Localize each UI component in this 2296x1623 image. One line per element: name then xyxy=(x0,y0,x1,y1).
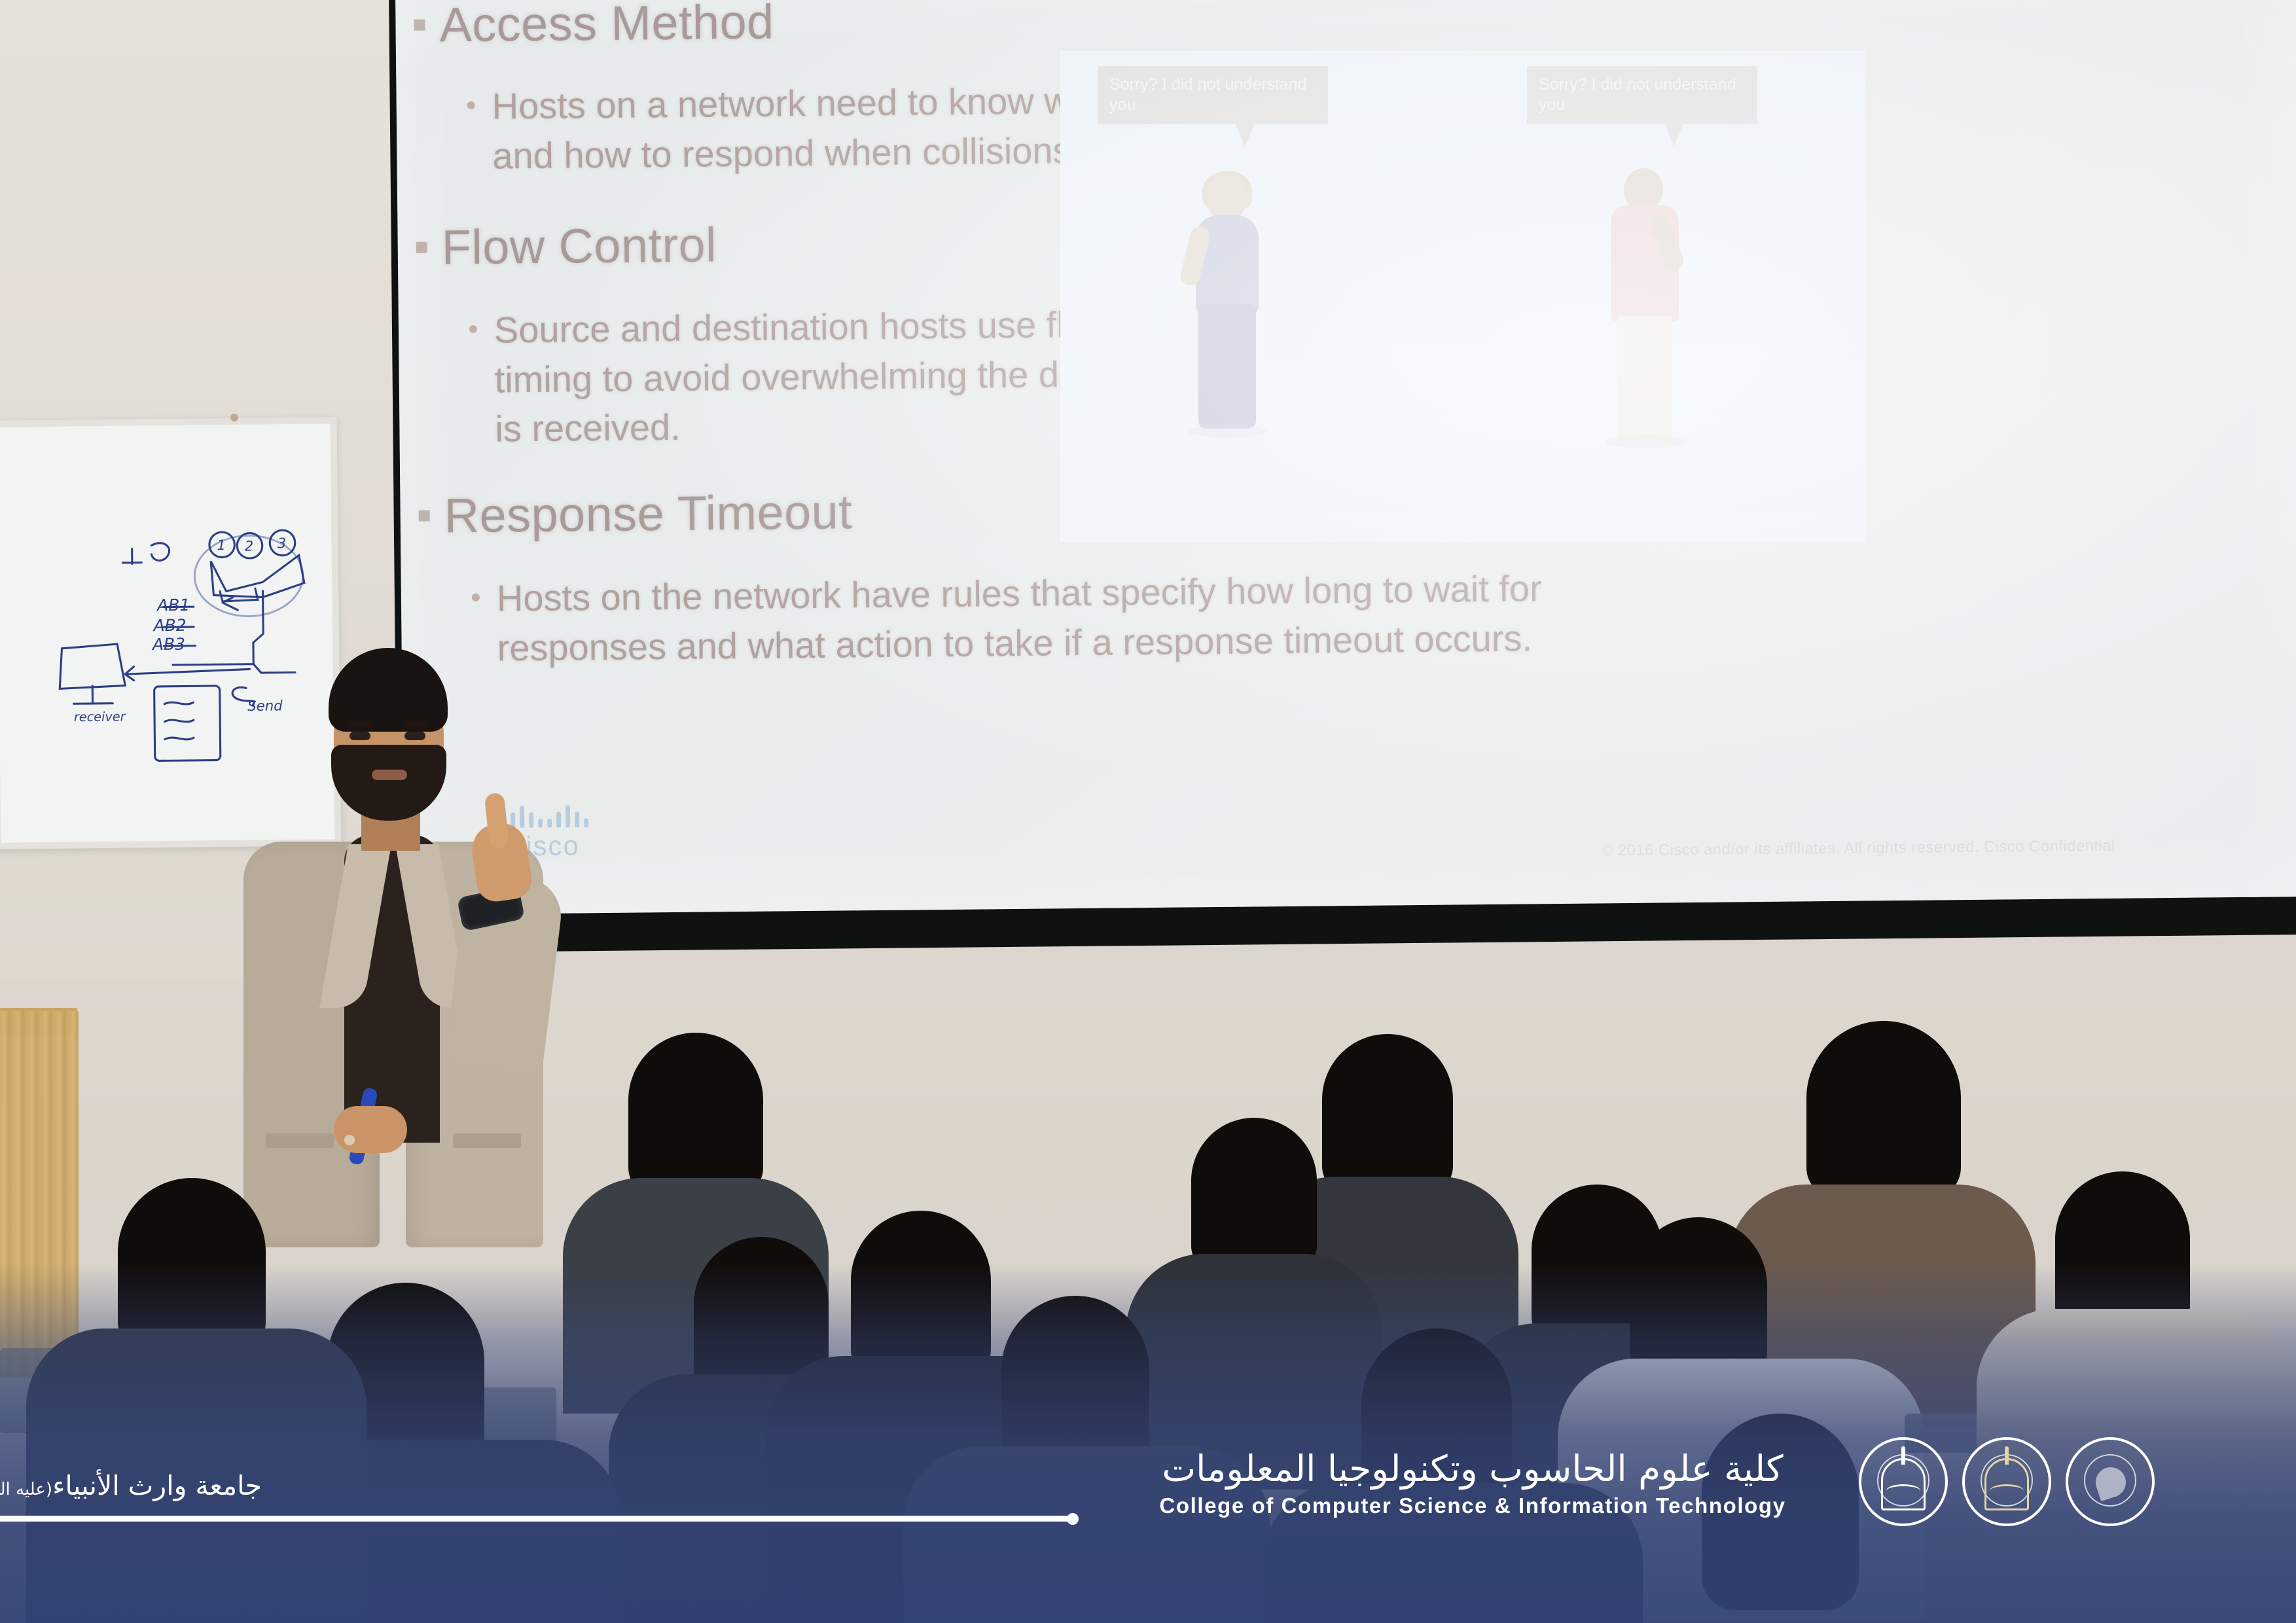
slide-copyright-line: © 2016 Cisco and/or its affiliates. All … xyxy=(1602,837,2115,861)
brand-divider-line xyxy=(0,1516,1073,1522)
seal-graphic xyxy=(1872,1448,1935,1516)
svg-text:2: 2 xyxy=(245,537,254,554)
slide-heading-flow-control: Flow Control xyxy=(416,217,717,275)
square-bullet-icon xyxy=(416,242,427,253)
svg-text:AB1: AB1 xyxy=(156,596,190,615)
student-head xyxy=(1191,1118,1317,1272)
slide-heading-access-method: Access Method xyxy=(414,0,774,53)
college-name-english: College of Computer Science & Informatio… xyxy=(1093,1493,1852,1518)
lecture-photo-frame: Access Method Hosts on a network need to… xyxy=(0,0,2296,1623)
student-head xyxy=(1322,1034,1453,1194)
university-name-arabic: جامعة وارث الأنبياء(عليه السلام) xyxy=(0,1470,262,1501)
person-shadow xyxy=(1188,425,1266,438)
slide-heading-response-timeout: Response Timeout xyxy=(418,484,852,543)
person-legs xyxy=(1617,316,1672,440)
institution-logos xyxy=(1859,1437,2155,1526)
seal-graphic xyxy=(2079,1448,2142,1516)
speech-bubble-right: Sorry? I did not understand you xyxy=(1527,66,1757,124)
college-name-arabic: كلية علوم الحاسوب وتكنولوجيا المعلومات xyxy=(1093,1449,1852,1489)
student-head xyxy=(628,1033,763,1196)
illustration-person-right xyxy=(1604,168,1696,463)
person-shadow xyxy=(1605,435,1687,448)
logo-university-warith-al-anbiyaa xyxy=(1962,1437,2051,1526)
logo-ccsit-university-seal xyxy=(1859,1437,1948,1526)
brand-divider-dot xyxy=(1067,1513,1079,1525)
presenter-eyebrow-right xyxy=(403,721,429,728)
svg-text:AB2: AB2 xyxy=(152,616,186,635)
person-skirt xyxy=(1198,304,1256,429)
book-icon xyxy=(1990,1484,2024,1497)
whiteboard-mount-screw xyxy=(230,414,238,421)
logo-ministry-of-higher-education xyxy=(2066,1437,2155,1526)
presenter-hair xyxy=(329,648,448,732)
round-bullet-icon xyxy=(472,594,480,601)
presenter-eye-left xyxy=(350,732,370,740)
presenter-mouth xyxy=(372,770,407,780)
spire-icon xyxy=(1901,1446,1905,1465)
svg-text:AB3: AB3 xyxy=(151,635,185,654)
person-head xyxy=(1206,175,1247,221)
svg-text:1: 1 xyxy=(217,537,226,553)
presenter-beard xyxy=(331,745,446,821)
speech-bubble-left: Sorry? I did not understand you xyxy=(1098,66,1328,124)
student-head xyxy=(1806,1021,1961,1199)
round-bullet-icon xyxy=(469,325,477,333)
svg-text:3: 3 xyxy=(278,535,287,551)
college-name-block: كلية علوم الحاسوب وتكنولوجيا المعلومات C… xyxy=(1093,1449,1852,1518)
book-icon xyxy=(1886,1484,1920,1497)
slide-body-response-timeout: Hosts on the network have rules that spe… xyxy=(472,563,1624,673)
round-bullet-icon xyxy=(467,101,475,109)
svg-text:receiver: receiver xyxy=(74,709,126,724)
square-bullet-icon xyxy=(414,20,425,31)
slide-illustration-photo: Sorry? I did not understand you Sorry? I… xyxy=(1060,51,1865,542)
spire-icon xyxy=(2005,1446,2009,1465)
square-bullet-icon xyxy=(419,510,430,522)
presenter-eye-right xyxy=(404,732,425,740)
seal-graphic xyxy=(1975,1448,2038,1516)
presenter-eyebrow-left xyxy=(347,721,373,728)
illustration-person-left xyxy=(1183,175,1274,450)
